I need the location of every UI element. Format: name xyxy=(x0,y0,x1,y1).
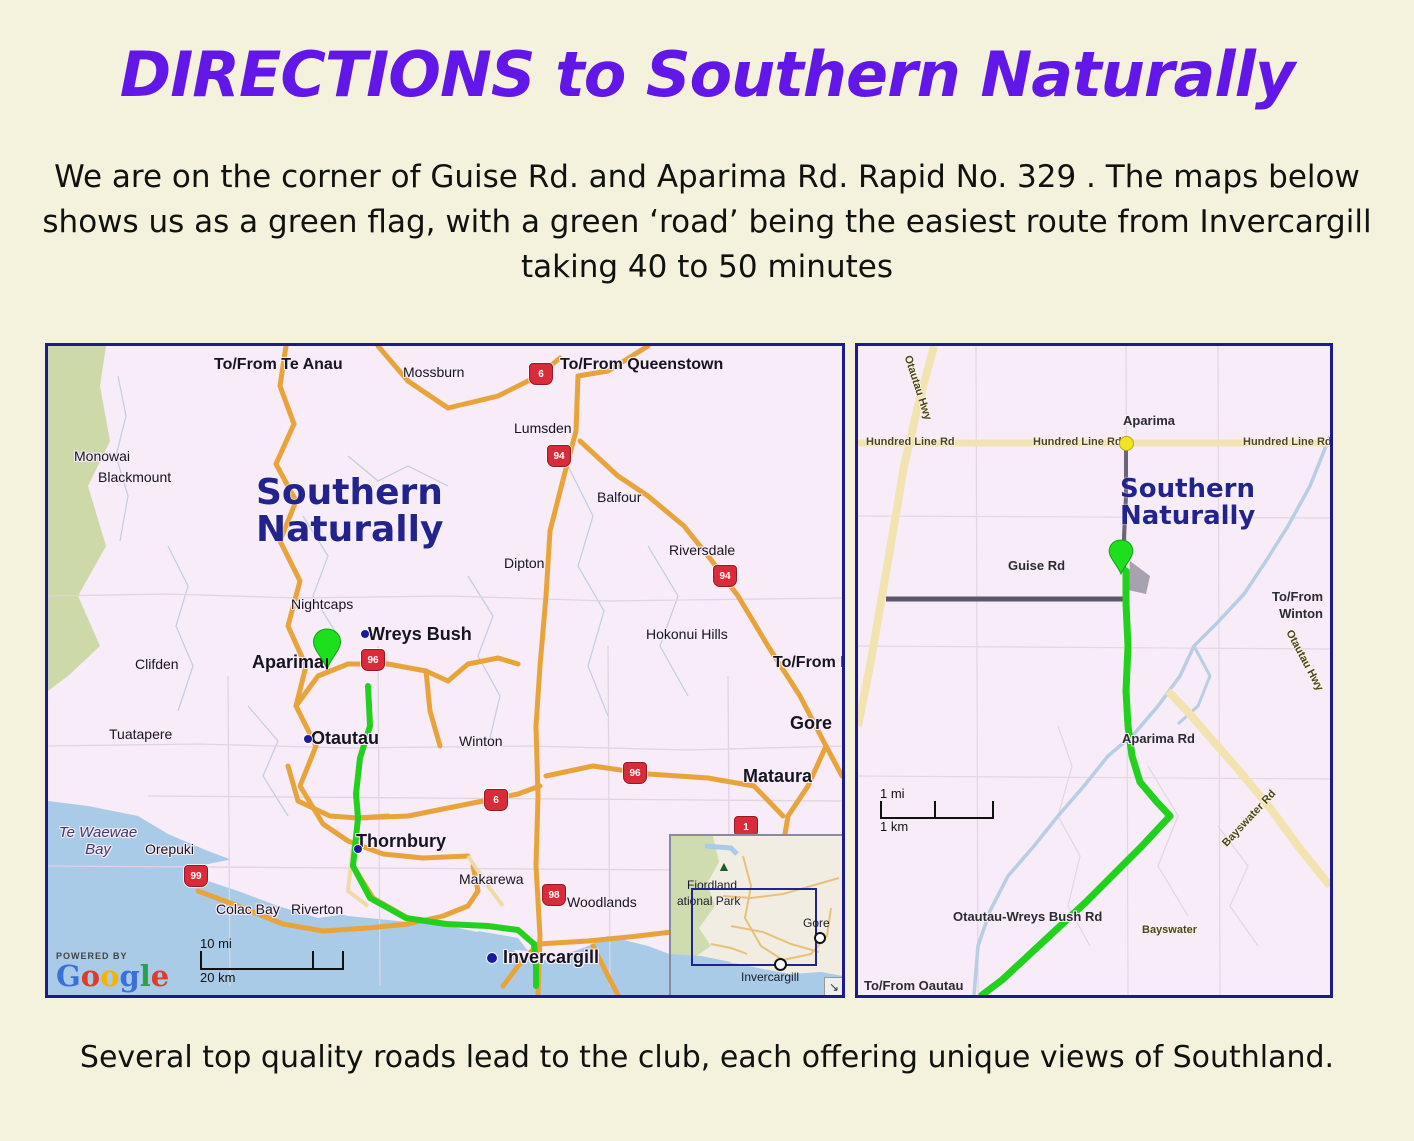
town-label-woodlands: Woodlands xyxy=(567,894,637,910)
inset-minimap[interactable]: ▲ Fiordland ational Park Gore Invercargi… xyxy=(669,834,845,998)
scale-bar-detail: 1 mi 1 km xyxy=(880,786,994,834)
gateway-label-oautau: To/From Oautau xyxy=(864,978,963,993)
town-label-blackmount: Blackmount xyxy=(98,469,171,485)
footer-caption: Several top quality roads lead to the cl… xyxy=(40,1040,1374,1075)
scale-km-detail: 1 km xyxy=(880,819,994,834)
park-tree-icon: ▲ xyxy=(717,858,731,874)
scale-miles: 10 mi xyxy=(200,936,344,951)
map-dot-invercargill xyxy=(487,953,497,963)
scale-bar-overview: 10 mi 20 km xyxy=(200,936,344,985)
gateway-label-dunedin: To/From Dunedin xyxy=(773,653,843,672)
road-label-hundred-line-rd-east: Hundred Line Rd xyxy=(1243,436,1332,448)
detail-map[interactable]: Hundred Line Rd Hundred Line Rd Hundred … xyxy=(855,343,1333,998)
highway-shield-6-winton[interactable]: 6 xyxy=(484,789,508,811)
town-label-hokonui-hills: Hokonui Hills xyxy=(646,627,706,642)
water-label-te-waewae-bay: Te Waewae Bay xyxy=(53,824,143,858)
location-pin-southern-naturally[interactable] xyxy=(312,628,342,670)
map-dot-wreys-bush xyxy=(361,630,369,638)
town-label-dipton: Dipton xyxy=(504,555,544,571)
gateway-label-winton: To/From Winton xyxy=(1271,588,1323,622)
map-dot-thornbury xyxy=(354,845,362,853)
town-label-invercargill: Invercargill xyxy=(503,947,599,968)
inset-dot-gore xyxy=(814,932,826,944)
town-label-thornbury: Thornbury xyxy=(356,831,446,852)
inset-label-invercargill: Invercargill xyxy=(741,970,799,984)
highway-shield-6[interactable]: 6 xyxy=(529,363,553,385)
town-label-riversdale: Riversdale xyxy=(669,542,735,558)
intro-paragraph: We are on the corner of Guise Rd. and Ap… xyxy=(40,155,1374,290)
brand-label-overview: Southern Naturally xyxy=(256,475,443,548)
town-label-lumsden: Lumsden xyxy=(514,420,572,436)
road-label-hundred-line-rd-mid: Hundred Line Rd xyxy=(1033,436,1122,448)
town-label-balfour: Balfour xyxy=(597,489,641,505)
road-label-otautau-wreys-bush-rd: Otautau-Wreys Bush Rd xyxy=(953,909,1102,924)
town-label-winton: Winton xyxy=(459,733,503,749)
google-logo: Google xyxy=(56,961,169,991)
gateway-label-te-anau: To/From Te Anau xyxy=(214,356,343,374)
town-label-riverton: Riverton xyxy=(291,901,343,917)
map-dot-otautau xyxy=(304,735,312,743)
road-label-guise-rd: Guise Rd xyxy=(1008,558,1065,573)
town-label-orepuki: Orepuki xyxy=(145,841,194,857)
page-title: DIRECTIONS to Southern Naturally xyxy=(0,38,1414,111)
highway-shield-98[interactable]: 98 xyxy=(542,884,566,906)
road-label-aparima-rd: Aparima Rd xyxy=(1122,731,1195,746)
overview-map[interactable]: To/From Te Anau To/From Queenstown To/Fr… xyxy=(45,343,845,998)
town-label-monowai: Monowai xyxy=(74,448,130,464)
town-label-gore: Gore xyxy=(790,713,832,734)
place-label-bayswater: Bayswater xyxy=(1142,924,1197,936)
town-label-clifden: Clifden xyxy=(135,656,179,672)
highway-shield-96-wreys[interactable]: 96 xyxy=(361,649,385,671)
location-pin-southern-naturally-detail[interactable] xyxy=(1108,539,1134,575)
road-label-hundred-line-rd-west: Hundred Line Rd xyxy=(866,436,955,448)
place-label-aparima: Aparima xyxy=(1123,413,1175,428)
google-attribution: POWERED BY Google xyxy=(56,951,169,991)
directions-page: DIRECTIONS to Southern Naturally We are … xyxy=(0,0,1414,1141)
junction-marker-aparima[interactable] xyxy=(1119,436,1134,451)
inset-label-gore: Gore xyxy=(803,916,830,930)
town-label-wreys-bush: Wreys Bush xyxy=(368,624,472,645)
town-label-mossburn: Mossburn xyxy=(403,364,464,380)
highway-shield-94[interactable]: 94 xyxy=(547,445,571,467)
town-label-tuatapere: Tuatapere xyxy=(109,726,172,742)
gateway-label-queenstown: To/From Queenstown xyxy=(560,356,723,374)
scale-km: 20 km xyxy=(200,970,344,985)
town-label-mataura: Mataura xyxy=(743,766,812,787)
town-label-nightcaps: Nightcaps xyxy=(291,596,353,612)
town-label-otautau: Otautau xyxy=(311,728,379,749)
highway-shield-94-riversdale[interactable]: 94 xyxy=(713,565,737,587)
inset-resize-handle[interactable]: ↘ xyxy=(824,977,843,996)
scale-miles-detail: 1 mi xyxy=(880,786,994,801)
highway-shield-99[interactable]: 99 xyxy=(184,865,208,887)
town-label-makarewa: Makarewa xyxy=(459,871,524,887)
town-label-colac-bay: Colac Bay xyxy=(216,901,280,917)
inset-viewport-box xyxy=(691,888,817,966)
brand-label-detail: Southern Naturally xyxy=(1120,476,1255,529)
highway-shield-96-east[interactable]: 96 xyxy=(623,762,647,784)
